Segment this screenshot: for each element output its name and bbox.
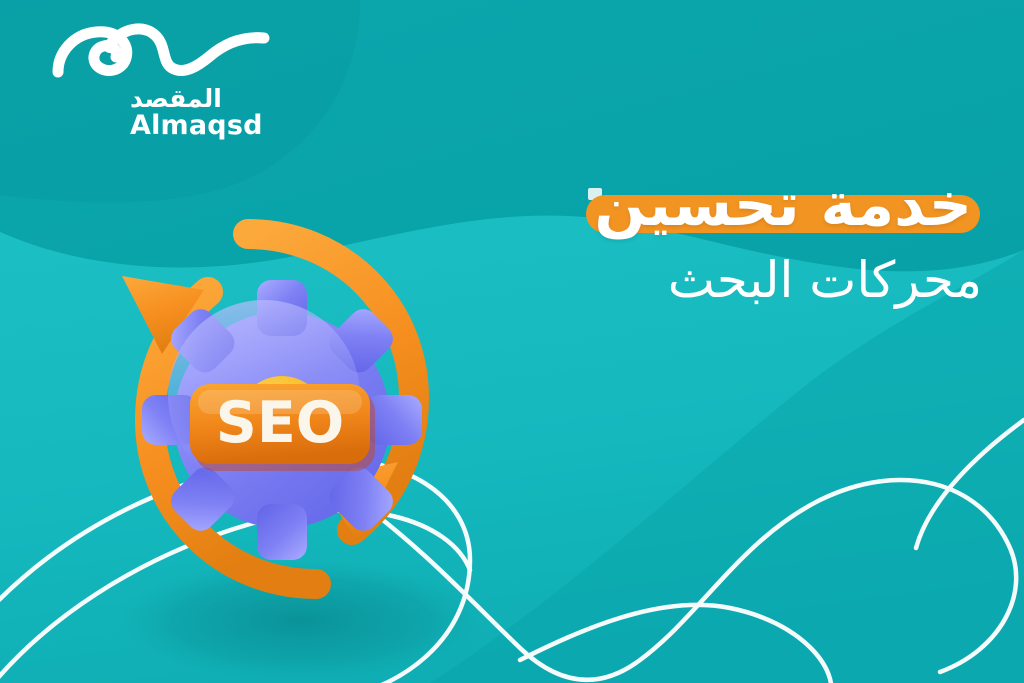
seo-badge-label: SEO <box>216 390 344 456</box>
headline-line-2: محركات البحث <box>462 251 982 310</box>
headline-line-1-wrap: خدمة تحسين <box>584 172 982 241</box>
almaqsd-swoosh-logo-icon <box>52 22 272 84</box>
seo-service-banner: المقصد Almaqsd خدمة تحسين محركات البحث <box>0 0 1024 683</box>
brand-name-arabic: المقصد <box>130 86 292 111</box>
headline-block: خدمة تحسين محركات البحث <box>462 172 982 310</box>
seo-illustration: SEO <box>72 212 492 612</box>
brand-name-english: Almaqsd <box>130 112 292 139</box>
brand-logo[interactable]: المقصد Almaqsd <box>52 22 292 142</box>
seo-badge: SEO <box>190 384 375 471</box>
headline-line-1: خدمة تحسين <box>594 170 972 240</box>
